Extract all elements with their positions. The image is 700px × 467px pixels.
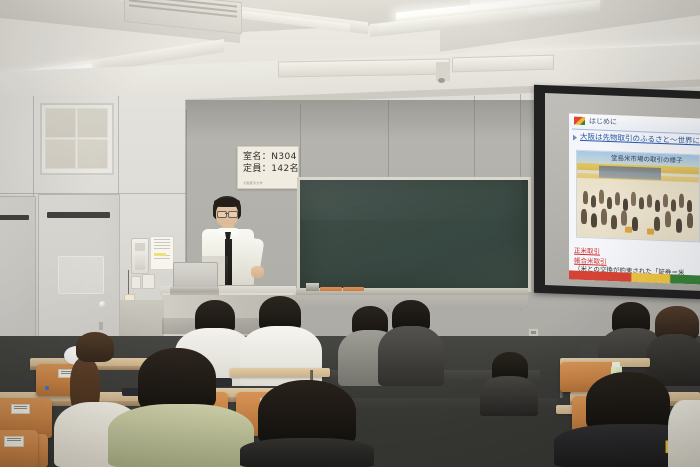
- seat-foreground-left[interactable]: [0, 430, 38, 467]
- room-sign: 室名：N304 定員：142名 大阪経済大学: [237, 146, 299, 189]
- laptop-shadow: [170, 291, 219, 295]
- slide-picture-basket: [625, 227, 632, 233]
- slide-logo-icon: [574, 117, 585, 125]
- lecturer-glasses-right: [228, 211, 238, 218]
- slide-bullet-marker: [573, 135, 577, 141]
- presentation-slide: はじめに 大阪は先物取引のふるさと～世界におけ 堂島米市場の取引の様子: [569, 113, 700, 284]
- laptop-screen[interactable]: [173, 262, 218, 290]
- water-bottle-cap[interactable]: [612, 362, 620, 367]
- slide-note-2-term: 帳合米取引: [574, 257, 607, 266]
- slide-picture-caption: 堂島米市場の取引の様子: [611, 154, 683, 165]
- student-olive-group: [110, 348, 250, 467]
- window-pane-1: [45, 108, 76, 138]
- student-center-foreground-group: [244, 380, 370, 467]
- room-sign-fineprint: 大阪経済大学: [243, 181, 298, 185]
- student-right-edge: [668, 400, 700, 467]
- room-sign-line-1: 室名：N304: [243, 151, 298, 163]
- wall-notice-sheet: [150, 236, 174, 270]
- window-pane-4: [77, 139, 108, 169]
- wall-telephone[interactable]: [131, 238, 149, 274]
- student-black-tee-hair: [586, 372, 670, 432]
- room-sign-line-2: 定員：142名: [243, 163, 298, 175]
- wall-outlet-1: [131, 276, 141, 289]
- lecturer-hand: [251, 266, 264, 278]
- blackboard-glare: [300, 180, 522, 220]
- projector-soffit-box-left: [278, 58, 450, 77]
- notice-highlight: [154, 253, 166, 256]
- student-center-foreground-body: [240, 438, 374, 467]
- phone-handset[interactable]: [135, 254, 145, 270]
- student-olive-body: [108, 404, 254, 467]
- door-window-slit-main: [47, 212, 110, 218]
- slide-picture: 堂島米市場の取引の様子: [576, 150, 700, 243]
- window-pane-3: [45, 139, 76, 169]
- phone-keypad: [135, 243, 145, 251]
- projector-lens-icon: [438, 78, 445, 83]
- student-center-foreground-hair: [258, 380, 356, 446]
- window-pane-2: [77, 108, 108, 138]
- door-window-slit-left: [0, 215, 29, 220]
- seat-label-foreground: [4, 436, 24, 447]
- projector-soffit-box-right: [452, 55, 554, 73]
- chalk-box-2[interactable]: [343, 287, 364, 291]
- wall-window-frame: [40, 103, 114, 175]
- wall-outlet-2: [142, 274, 155, 289]
- seat-label-2: [11, 404, 30, 414]
- slide-title: はじめに: [589, 117, 617, 126]
- slide-bullet-text: 大阪は先物取引のふるさと～世界におけ: [580, 132, 700, 146]
- slide-picture-building: [599, 166, 661, 180]
- student-ponytail-head: [76, 332, 114, 362]
- slide-picture-basket-2: [647, 228, 654, 234]
- blackboard-eraser[interactable]: [306, 283, 319, 291]
- door-kick-plate: [58, 256, 104, 294]
- student-olive-hair: [138, 348, 216, 410]
- chalk-box-1[interactable]: [320, 287, 342, 291]
- student-body-dark-b: [378, 326, 444, 386]
- lecture-hall-photo: 室名：N304 定員：142名 大阪経済大学 はじめに 大阪は先物取引のふるさと…: [0, 0, 700, 467]
- lecturer-glasses-bridge: [225, 213, 228, 214]
- student-aisle-right-body: [480, 376, 538, 416]
- lecturer-hair-front: [214, 198, 240, 207]
- seat-dot-1: [45, 386, 49, 390]
